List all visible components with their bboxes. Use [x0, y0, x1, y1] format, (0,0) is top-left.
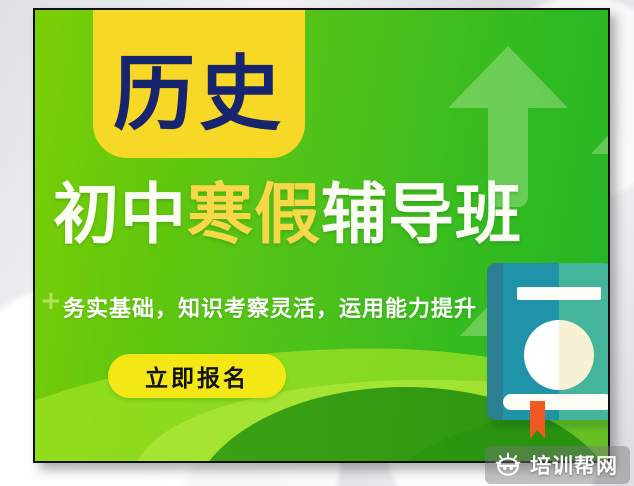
headline: 初中寒假辅导班: [53, 182, 522, 248]
book-pages: [503, 394, 608, 410]
headline-segment-3: 辅导班: [321, 176, 522, 253]
subject-badge-label: 历史: [113, 54, 285, 158]
subject-badge: 历史: [93, 10, 305, 158]
up-arrow-icon: [591, 88, 608, 238]
watermark-label: 培训帮网: [530, 450, 618, 480]
subtitle: 务实基础，知识考察灵活，运用能力提升: [63, 291, 477, 323]
headline-segment-2: 寒假: [187, 176, 321, 253]
sun-face-icon: [495, 452, 521, 478]
promo-banner: + 历史 初中寒假辅导班 务实基础，知识考察灵活，运用能力提升 立即报名: [35, 10, 608, 461]
banner-frame: + 历史 初中寒假辅导班 务实基础，知识考察灵活，运用能力提升 立即报名: [33, 8, 610, 463]
book-illustration: [487, 263, 608, 428]
headline-segment-1: 初中: [53, 176, 187, 253]
book-title-bar: [517, 287, 601, 300]
up-arrow-head: [591, 100, 608, 154]
enroll-now-button-label: 立即报名: [145, 359, 249, 393]
enroll-now-button[interactable]: 立即报名: [108, 354, 286, 398]
plus-mark-icon: +: [40, 288, 62, 314]
watermark: 培训帮网: [485, 446, 630, 484]
